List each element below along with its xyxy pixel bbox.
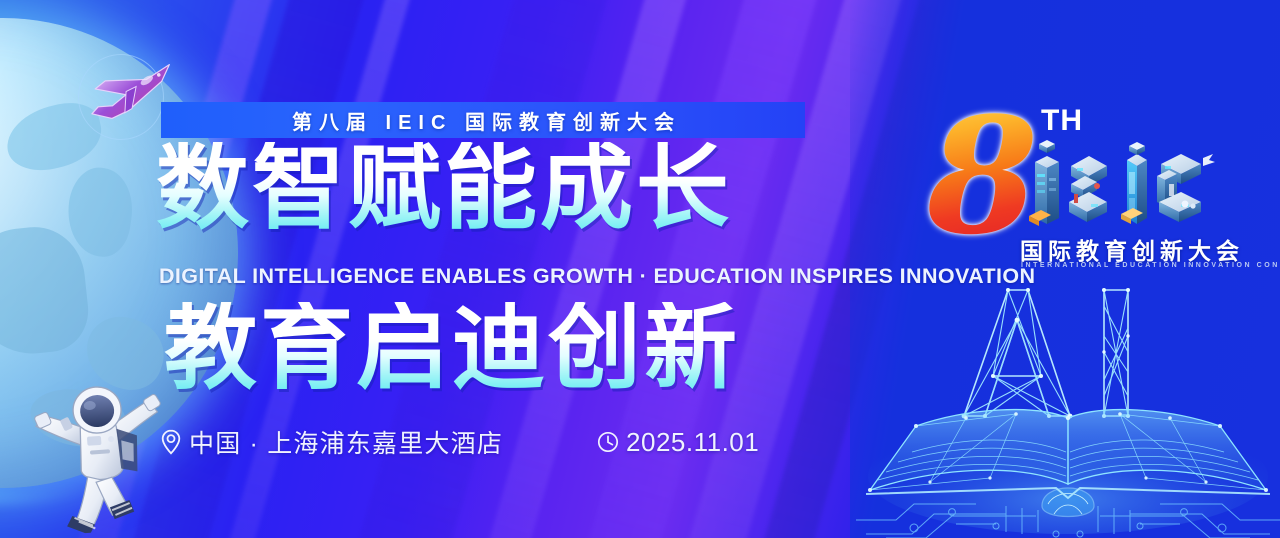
clock-icon: [597, 431, 619, 453]
event-meta: 中国 · 上海浦东嘉里大酒店 2025.11.01: [160, 424, 759, 460]
logo-edition-suffix: TH: [1041, 104, 1083, 138]
conference-banner: 第八届 IEIC 国际教育创新大会 数智赋能成长 DIGITAL INTELLI…: [0, 0, 1280, 538]
event-date: 2025.11.01: [597, 427, 759, 458]
date-text: 2025.11.01: [626, 427, 759, 458]
location-text: 中国 · 上海浦东嘉里大酒店: [189, 424, 503, 460]
headline-line-1: 数智赋能成长: [156, 142, 732, 235]
ribbon-title-text: 第八届 IEIC 国际教育创新大会: [285, 106, 681, 135]
conference-logo: 8 TH: [925, 92, 1235, 292]
ribbon-title-bar: 第八届 IEIC 国际教育创新大会: [161, 102, 805, 138]
logo-name-en: INTERNATIONAL EDUCATION INNOVATION CONFE…: [1021, 262, 1280, 269]
event-location: 中国 · 上海浦东嘉里大酒店: [160, 424, 503, 460]
headline-line-2: 教育启迪创新: [164, 302, 740, 395]
logo-acronym-ieic: [1021, 140, 1219, 232]
location-pin-icon: [160, 429, 182, 455]
banner-content: 第八届 IEIC 国际教育创新大会 数智赋能成长 DIGITAL INTELLI…: [152, 0, 852, 538]
ai-book-graphic: [856, 276, 1280, 538]
logo-name-cn: 国际教育创新大会: [1020, 232, 1244, 266]
